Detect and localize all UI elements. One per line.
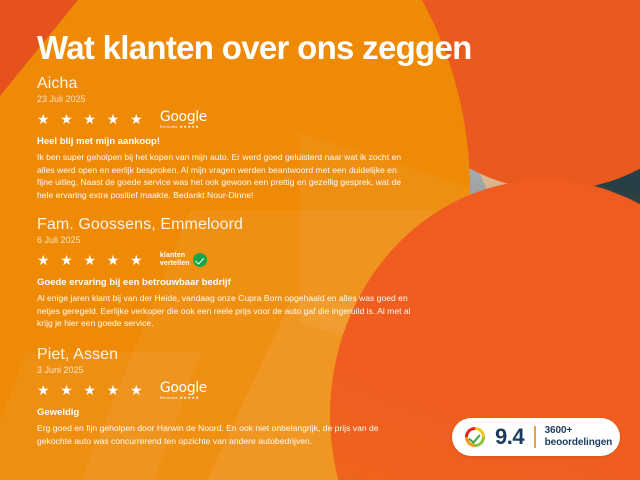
kiyoh-check-icon [464,426,486,448]
star-rating-icon: ★ ★ ★ ★ ★ [37,110,146,128]
review-card-3: Piet, Assen 3 Juni 2025 ★ ★ ★ ★ ★ Google… [37,345,412,447]
google-reviews-logo: Google Reviews ★★★★★ [160,381,207,400]
review-card-1: Aicha 23 Juli 2025 ★ ★ ★ ★ ★ Google Revi… [37,74,412,201]
klantenvertellen-wordmark: klanten vertellen [160,252,190,268]
review-body: Al enige jaren klant bij van der Heide, … [37,292,412,330]
review-date: 3 Juni 2025 [37,364,412,377]
kv-line-2: vertellen [160,260,190,268]
star-rating-icon: ★ ★ ★ ★ ★ [37,251,146,269]
reviewer-name: Aicha [37,74,412,93]
review-meta-row: ★ ★ ★ ★ ★ Google Reviews ★★★★★ [37,381,412,399]
content-layer: Wat klanten over ons zeggen Aicha 23 Jul… [0,0,640,480]
rating-score: 9.4 [495,426,524,448]
klantenvertellen-logo: klanten vertellen [160,252,207,268]
review-date: 23 Juli 2025 [37,93,412,106]
google-reviews-logo: Google Reviews ★★★★★ [160,110,207,129]
review-meta-row: ★ ★ ★ ★ ★ Google Reviews ★★★★★ [37,110,412,128]
review-card-2: Fam. Goossens, Emmeloord 6 Juli 2025 ★ ★… [37,215,412,330]
rating-count: 3600+ [545,425,613,437]
rating-count-label: beoordelingen [545,437,613,449]
review-meta-row: ★ ★ ★ ★ ★ klanten vertellen [37,251,412,269]
reviewer-name: Fam. Goossens, Emmeloord [37,215,412,234]
rating-count-block: 3600+ beoordelingen [545,425,613,449]
review-date: 6 Juli 2025 [37,234,412,247]
google-logo-subtext: Reviews ★★★★★ [160,125,199,129]
google-logo-subtext: Reviews ★★★★★ [160,396,199,400]
review-body: Ik ben super geholpen bij het kopen van … [37,151,412,201]
google-logo-text: Google [160,381,207,395]
rating-badge: 9.4 3600+ beoordelingen [452,418,620,456]
google-logo-text: Google [160,110,207,124]
testimonial-banner: Wat klanten over ons zeggen Aicha 23 Jul… [0,0,640,480]
kv-line-1: klanten [160,252,190,260]
review-title: Heel blij met mijn aankoop! [37,135,412,148]
page-title: Wat klanten over ons zeggen [37,29,472,67]
star-rating-icon: ★ ★ ★ ★ ★ [37,381,146,399]
rating-divider [534,426,536,448]
review-title: Geweldig [37,406,412,419]
review-title: Goede ervaring bij een betrouwbaar bedri… [37,276,412,289]
green-check-icon [193,253,207,267]
reviewer-name: Piet, Assen [37,345,412,364]
review-body: Erg goed en fijn geholpen door Harwin de… [37,422,412,447]
